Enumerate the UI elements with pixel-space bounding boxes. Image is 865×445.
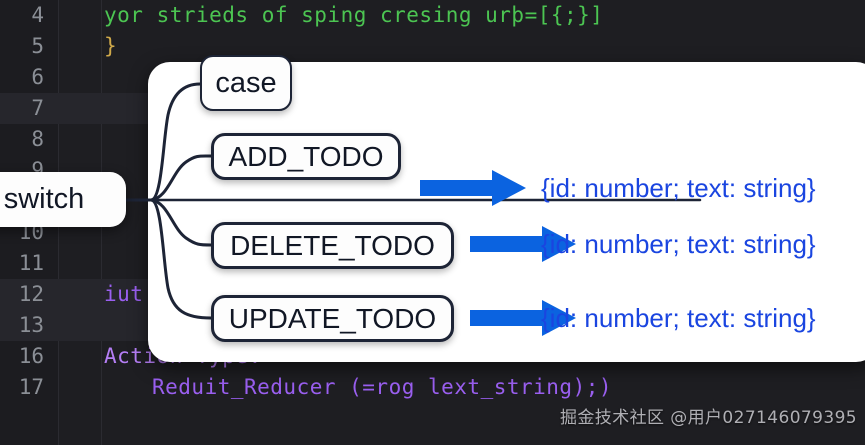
line-number: 8: [0, 124, 44, 155]
node-delete-todo-label: DELETE_TODO: [230, 230, 435, 262]
payload-label-update-todo: {id: number; text: string}: [541, 303, 816, 334]
node-update-todo-label: UPDATE_TODO: [229, 303, 436, 335]
line-number: 4: [0, 0, 44, 31]
code-text: Reduit_Reducer (=rog lext_string);): [104, 372, 612, 403]
node-update-todo[interactable]: UPDATE_TODO: [211, 295, 454, 342]
node-switch-label: switch: [4, 183, 85, 216]
code-text: yor strieds of sping cresing urþ=[{;}]: [104, 0, 603, 31]
arrow-icon-add-todo: [420, 168, 528, 208]
code-line: 4yor strieds of sping cresing urþ=[{;}]: [0, 0, 865, 31]
payload-label-delete-todo: {id: number; text: string}: [541, 229, 816, 260]
watermark-text: 掘金技术社区 @用户027146079395: [560, 403, 857, 428]
code-text: iut: [104, 279, 143, 310]
node-switch[interactable]: switch: [0, 172, 126, 227]
line-number: 13: [0, 310, 44, 341]
screenshot-root: 4yor strieds of sping cresing urþ=[{;}]5…: [0, 0, 865, 445]
node-case-label: case: [215, 67, 276, 100]
node-delete-todo[interactable]: DELETE_TODO: [211, 222, 454, 269]
node-case[interactable]: case: [200, 55, 292, 111]
node-add-todo[interactable]: ADD_TODO: [211, 133, 401, 180]
payload-label-add-todo: {id: number; text: string}: [541, 173, 816, 204]
line-number: 7: [0, 93, 44, 124]
line-number: 11: [0, 248, 44, 279]
line-number: 6: [0, 62, 44, 93]
node-add-todo-label: ADD_TODO: [228, 141, 383, 173]
code-line: 17Reduit_Reducer (=rog lext_string);): [0, 372, 865, 403]
line-number: 16: [0, 341, 44, 372]
code-line: 5}: [0, 31, 865, 62]
line-number: 12: [0, 279, 44, 310]
code-text: }: [104, 31, 117, 62]
line-number: 5: [0, 31, 44, 62]
line-number: 17: [0, 372, 44, 403]
